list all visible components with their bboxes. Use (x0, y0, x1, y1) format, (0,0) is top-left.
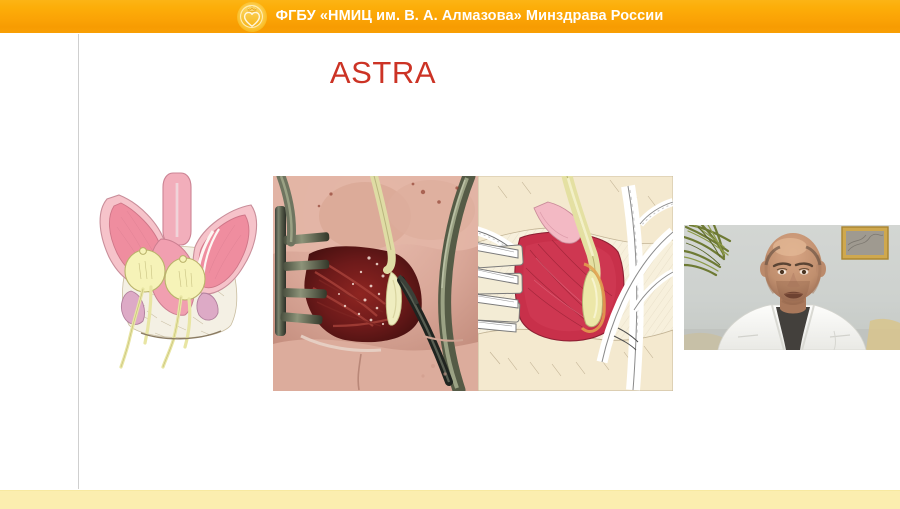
slide-title: ASTRA (78, 55, 688, 91)
crowned-heart-logo-icon (237, 2, 267, 32)
footer-bar (0, 490, 900, 509)
header-title: ФГБУ «НМИЦ им. В. А. Алмазова» Минздрава… (276, 0, 664, 33)
presenter-webcam-video[interactable] (684, 225, 900, 350)
header-brand-group: ФГБУ «НМИЦ им. В. А. Алмазова» Минздрава… (237, 0, 664, 33)
slide-canvas: ASTRA (0, 33, 900, 490)
figure-anatomy-drawing (85, 165, 270, 380)
figure-surgical-schematic (478, 176, 673, 391)
app-header-bar: ФГБУ «НМИЦ им. В. А. Алмазова» Минздрава… (0, 0, 900, 33)
slide-left-margin-rule (78, 34, 79, 489)
figure-operative-photo (273, 176, 478, 391)
